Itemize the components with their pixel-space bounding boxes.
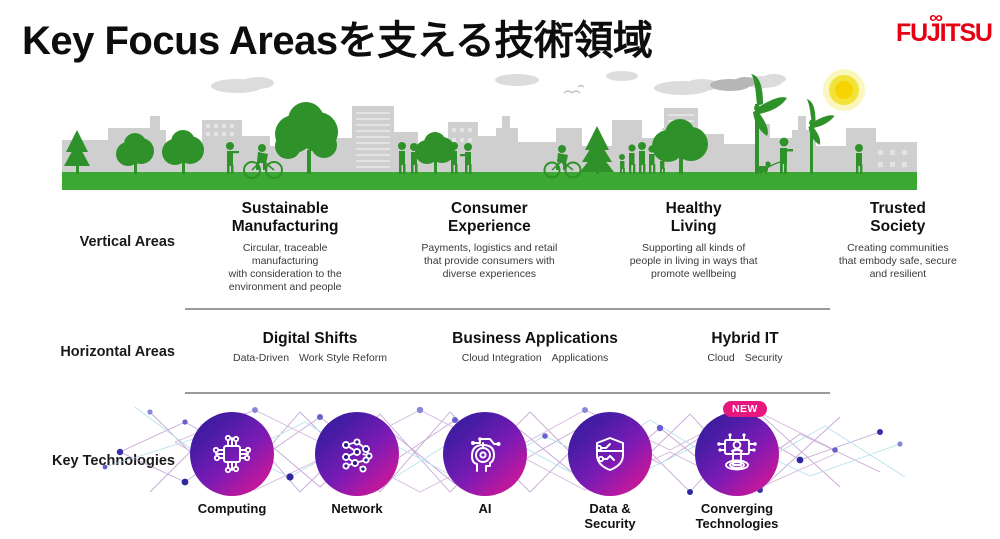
vertical-area-title: Healthy Living	[598, 200, 790, 237]
row-label-horizontal-areas: Horizontal Areas	[0, 344, 183, 360]
ground-band	[62, 172, 917, 190]
key-tech-label: AI	[443, 502, 527, 517]
city-illustration-svg	[62, 58, 917, 190]
vertical-area-desc: Payments, logistics and retail that prov…	[393, 242, 585, 282]
horizontal-area-tag: Data-Driven	[233, 352, 289, 364]
horizontal-area-tag: Work Style Reform	[299, 352, 387, 364]
row-label-vertical-areas: Vertical Areas	[0, 234, 183, 250]
horizontal-area-tag: Cloud Integration	[462, 352, 542, 364]
horizontal-area-title: Digital Shifts	[200, 330, 420, 349]
vertical-area-desc: Creating communities that embody safe, s…	[802, 242, 994, 282]
horizontal-area-tag: Applications	[552, 352, 609, 364]
key-tech-circle[interactable]	[315, 412, 399, 496]
key-tech-circle[interactable]	[443, 412, 527, 496]
fujitsu-logo: ∞ FUJITSU	[896, 10, 988, 44]
key-tech-label: Network	[315, 502, 399, 517]
key-tech-label: Converging Technologies	[695, 502, 779, 532]
key-technologies-group: Computing	[0, 392, 1000, 539]
sun-icon	[823, 69, 865, 111]
vertical-areas-group: Sustainable Manufacturing Circular, trac…	[183, 200, 1000, 300]
ai-brain-head-icon	[461, 430, 509, 478]
horizontal-area-card[interactable]: Hybrid IT CloudSecurity	[650, 330, 840, 380]
horizontal-areas-group: Digital Shifts Data-DrivenWork Style Ref…	[200, 330, 840, 380]
converging-person-icon	[713, 430, 761, 478]
horizontal-area-tag: Security	[745, 352, 783, 364]
key-tech-data-security[interactable]: Data & Security	[568, 412, 652, 532]
key-tech-computing[interactable]: Computing	[190, 412, 274, 517]
key-tech-circle[interactable]	[568, 412, 652, 496]
cloud-group	[211, 71, 786, 95]
key-tech-label: Computing	[190, 502, 274, 517]
horizontal-area-tags: CloudSecurity	[650, 352, 840, 364]
key-tech-circle[interactable]: NEW	[695, 412, 779, 496]
fujitsu-wordmark: FUJITSU	[896, 19, 992, 48]
network-nodes-icon	[333, 430, 381, 478]
new-badge: NEW	[723, 401, 767, 417]
vertical-area-card[interactable]: Consumer Experience Payments, logistics …	[387, 200, 591, 300]
vertical-area-card[interactable]: Healthy Living Supporting all kinds of p…	[592, 200, 796, 300]
microchip-icon	[208, 430, 256, 478]
vertical-area-title: Trusted Society	[802, 200, 994, 237]
key-tech-ai[interactable]: AI	[443, 412, 527, 517]
key-tech-network[interactable]: Network	[315, 412, 399, 517]
horizontal-area-title: Business Applications	[420, 330, 650, 349]
cloud-dark-group	[710, 77, 756, 91]
horizontal-area-card[interactable]: Digital Shifts Data-DrivenWork Style Ref…	[200, 330, 420, 380]
horizontal-area-tags: Data-DrivenWork Style Reform	[200, 352, 420, 364]
key-tech-converging[interactable]: NEW Conve	[695, 412, 779, 532]
horizontal-area-title: Hybrid IT	[650, 330, 840, 349]
vertical-area-desc: Supporting all kinds of people in living…	[598, 242, 790, 282]
vertical-area-title: Sustainable Manufacturing	[189, 200, 381, 237]
green-city-banner	[62, 58, 917, 190]
horizontal-area-card[interactable]: Business Applications Cloud IntegrationA…	[420, 330, 650, 380]
vertical-area-title: Consumer Experience	[393, 200, 585, 237]
key-tech-circle[interactable]	[190, 412, 274, 496]
horizontal-area-tags: Cloud IntegrationApplications	[420, 352, 650, 364]
key-tech-label: Data & Security	[568, 502, 652, 532]
vertical-area-card[interactable]: Sustainable Manufacturing Circular, trac…	[183, 200, 387, 300]
vertical-area-card[interactable]: Trusted Society Creating communities tha…	[796, 200, 1000, 300]
shield-data-icon	[586, 430, 634, 478]
horizontal-area-tag: Cloud	[707, 352, 734, 364]
divider-vertical-horizontal	[185, 308, 830, 310]
vertical-area-desc: Circular, traceable manufacturing with c…	[189, 242, 381, 295]
